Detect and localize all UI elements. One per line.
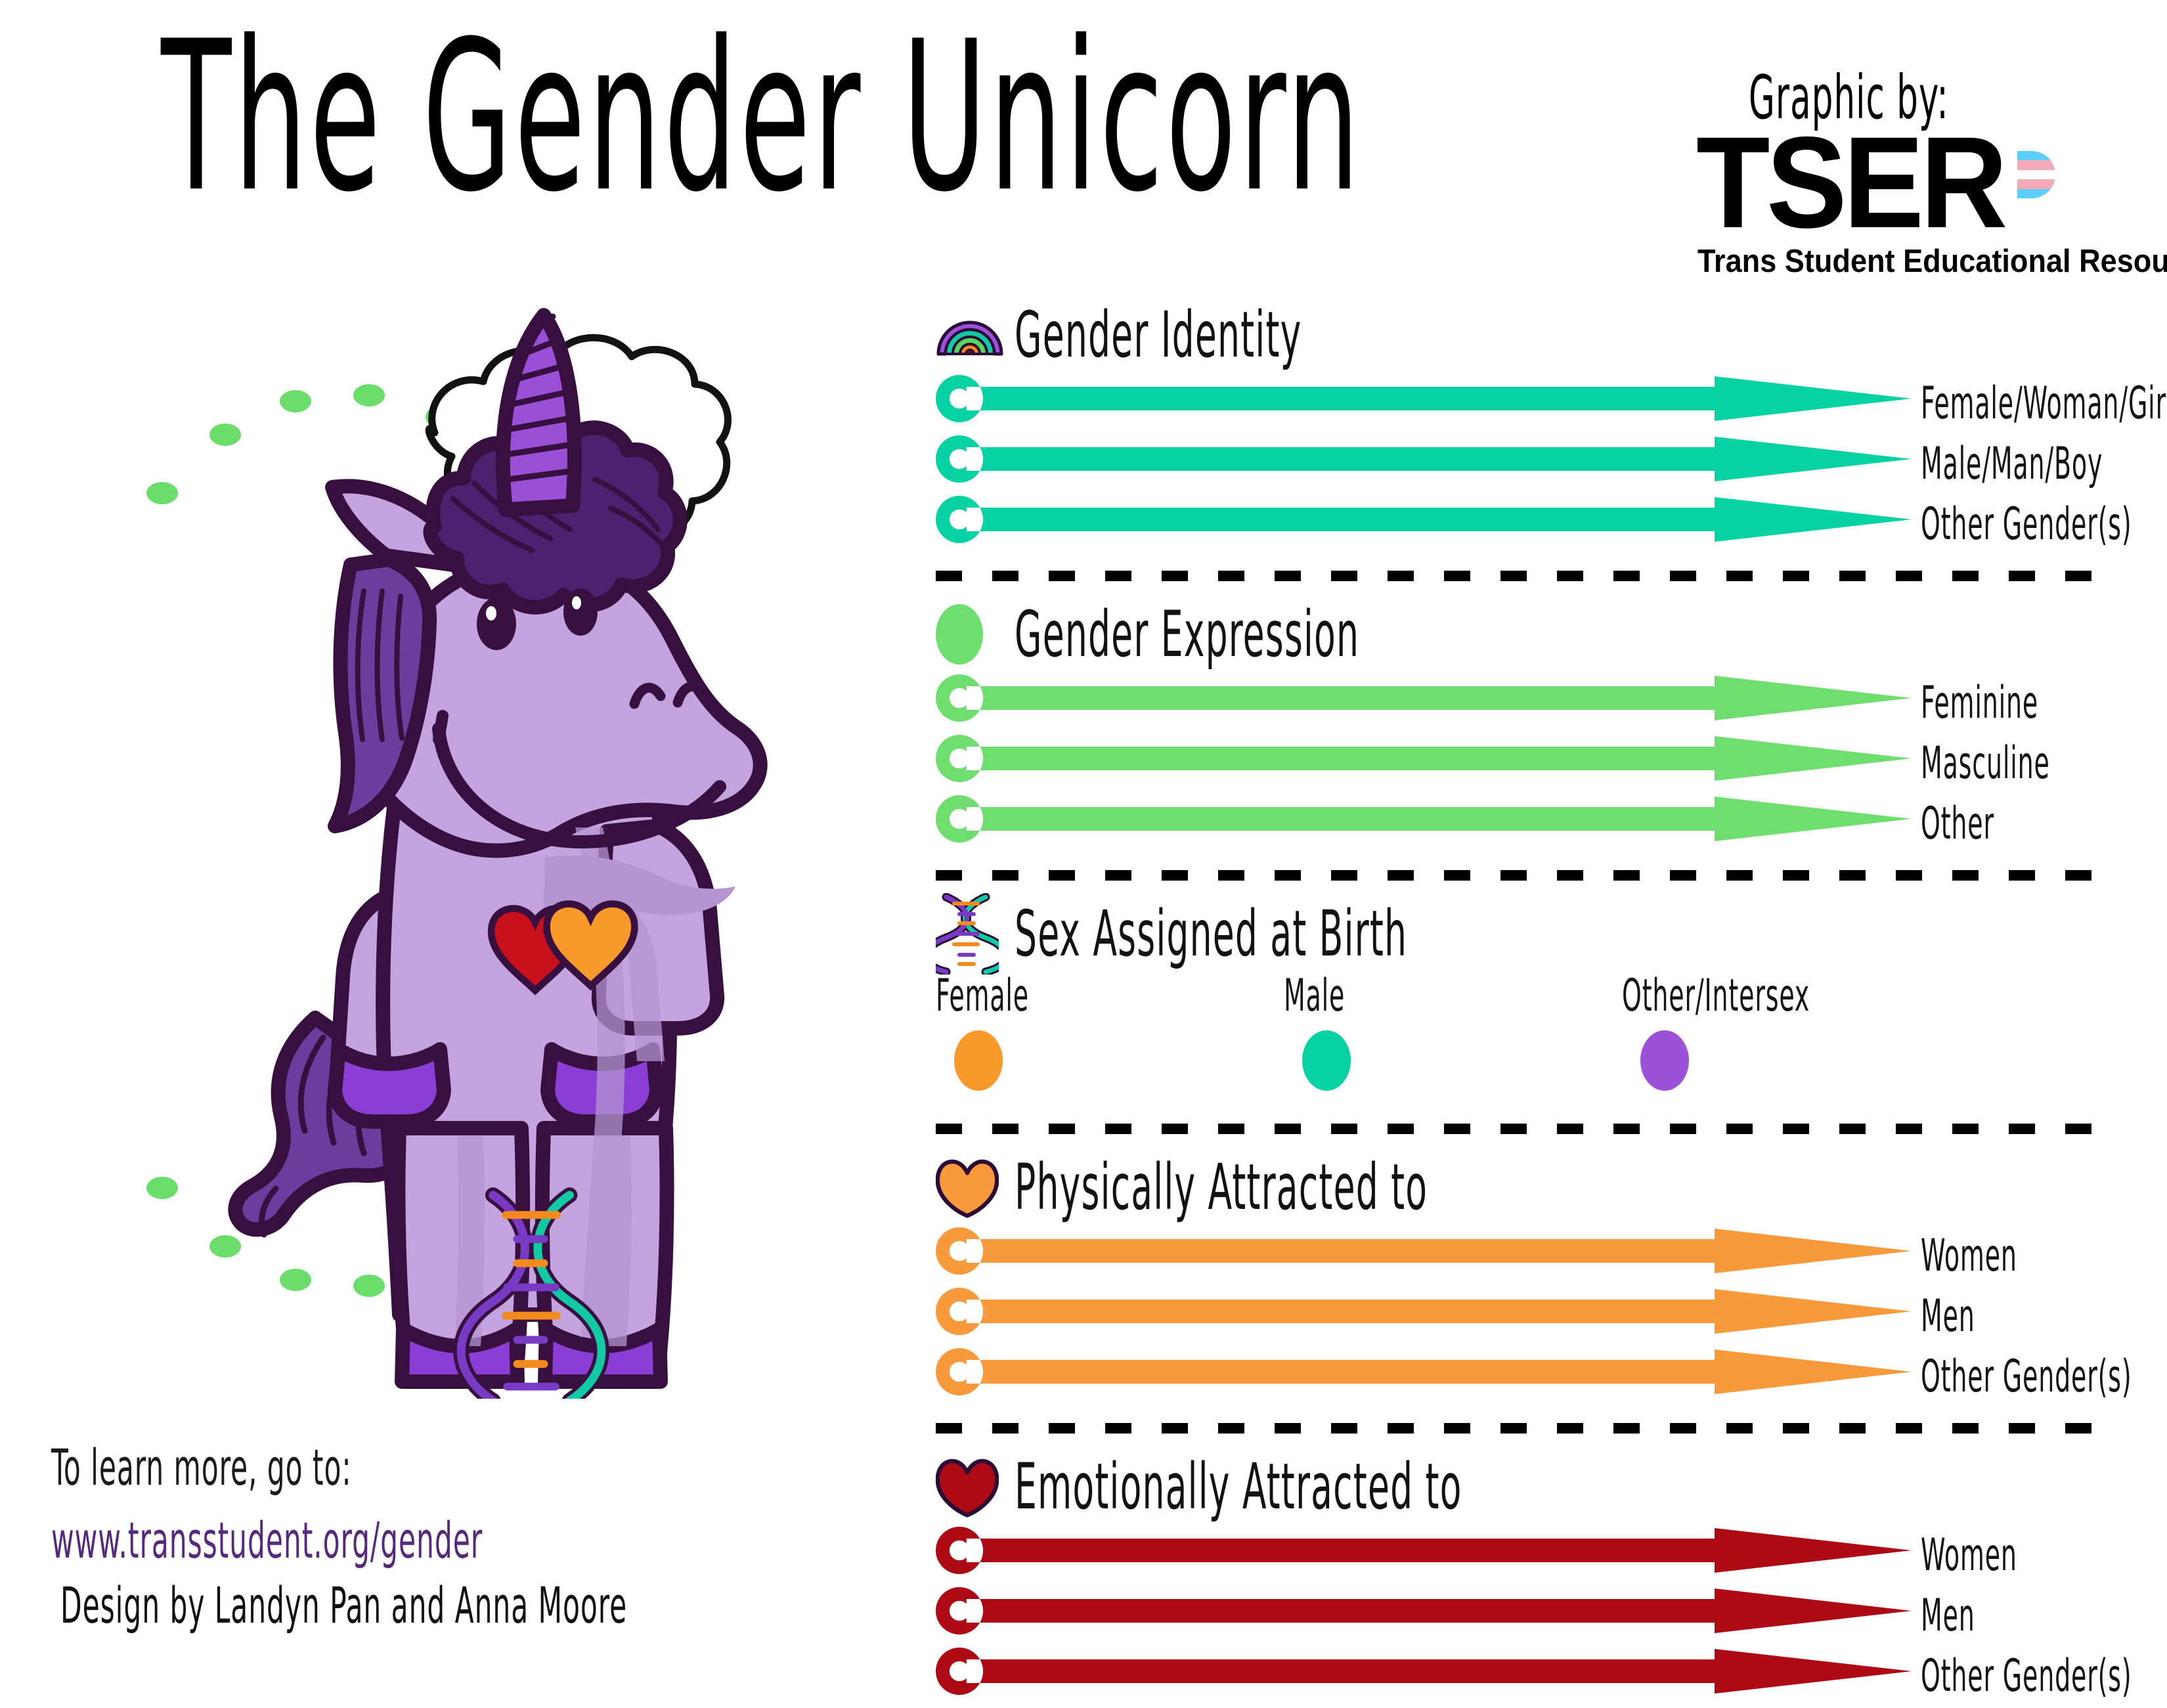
spectrum-label: Other	[1921, 798, 1994, 850]
section-icon-slot	[936, 893, 1013, 974]
section-header: Sex Assigned at Birth	[936, 898, 2111, 970]
graphic-credit-block: Graphic by: TSER Trans Student Education…	[1671, 62, 2131, 280]
spectrum-arrow[interactable]	[936, 735, 1912, 782]
spectrum-row[interactable]: Other Gender(s)	[936, 1648, 2111, 1708]
dna-icon	[936, 893, 999, 974]
spectrum-label: Other Gender(s)	[1921, 1351, 2132, 1403]
section-gender-identity: Gender Identity Female/Woman/Girl Male/M…	[936, 299, 2111, 556]
section-divider	[936, 1423, 2111, 1434]
sab-label: Other/Intersex	[1622, 970, 1810, 1022]
sab-label-row: FemaleMaleOther/Intersex	[936, 970, 2111, 1030]
section-header: Gender Identity	[936, 299, 2111, 371]
gender-unicorn-illustration	[177, 282, 913, 1399]
decor-dot	[146, 1177, 178, 1199]
spectrum-label: Men	[1921, 1290, 1975, 1342]
section-emotionally-attracted-to: Emotionally Attracted to Women Men Other…	[936, 1451, 2111, 1708]
arrow-rows: Feminine Masculine Other	[936, 674, 2111, 856]
spectrum-arrow[interactable]	[936, 1527, 1912, 1574]
arrow-rows: Women Men Other Gender(s)	[936, 1527, 2111, 1708]
spectrum-label: Feminine	[1921, 677, 2038, 729]
spectrum-arrow[interactable]	[936, 1587, 1912, 1634]
section-physically-attracted-to: Physically Attracted to Women Men Other …	[936, 1151, 2111, 1409]
tser-logo: TSER	[1696, 123, 2131, 242]
spectrum-row[interactable]: Other Gender(s)	[936, 1348, 2111, 1409]
spectrum-row[interactable]: Men	[936, 1288, 2111, 1348]
spectrum-label: Male/Man/Boy	[1921, 438, 2103, 490]
arrow-rows: Female/Woman/Girl Male/Man/Boy Other Gen…	[936, 375, 2111, 556]
spectrum-label: Other Gender(s)	[1921, 498, 2132, 550]
section-divider	[936, 571, 2111, 581]
section-gender-expression: Gender Expression Feminine Masculine Oth…	[936, 598, 2111, 856]
decor-dot	[146, 482, 178, 504]
spectrum-arrow[interactable]	[936, 435, 1912, 483]
green-circle-icon	[936, 604, 983, 665]
spectrum-arrow[interactable]	[936, 1227, 1912, 1275]
website-url[interactable]: www.transstudent.org/gender	[51, 1511, 483, 1569]
spectrum-row[interactable]: Other	[936, 795, 2111, 856]
section-divider	[936, 1124, 2111, 1134]
spectrum-label: Women	[1921, 1230, 2017, 1282]
page-title: The Gender Unicorn	[161, 20, 1362, 216]
orange-heart-icon	[936, 1156, 999, 1218]
section-icon-slot	[936, 604, 1013, 665]
poster-canvas: The Gender Unicorn Graphic by: TSER Tran…	[0, 0, 2167, 1675]
section-header: Gender Expression	[936, 598, 2111, 670]
spectrum-arrow[interactable]	[936, 1648, 1912, 1695]
section-title: Emotionally Attracted to	[1015, 1450, 1462, 1523]
spectrum-row[interactable]: Male/Man/Boy	[936, 435, 2111, 496]
sab-dot-row	[936, 1030, 2111, 1109]
sab-label: Male	[1284, 970, 1345, 1022]
section-sex-assigned-at-birth: Sex Assigned at BirthFemaleMaleOther/Int…	[936, 898, 2111, 1109]
rainbow-icon	[936, 313, 1004, 357]
section-title: Physically Attracted to	[1015, 1150, 1428, 1224]
section-title: Sex Assigned at Birth	[1015, 897, 1407, 971]
spectrum-row[interactable]: Other Gender(s)	[936, 496, 2111, 556]
arrow-rows: Women Men Other Gender(s)	[936, 1227, 2111, 1409]
spectrum-row[interactable]: Men	[936, 1587, 2111, 1648]
spectrum-label: Masculine	[1921, 737, 2050, 789]
section-header: Emotionally Attracted to	[936, 1451, 2111, 1523]
spectrum-arrow[interactable]	[936, 1348, 1912, 1395]
categories-column: Gender Identity Female/Woman/Girl Male/M…	[936, 299, 2111, 1708]
spectrum-row[interactable]: Female/Woman/Girl	[936, 375, 2111, 435]
learn-more-label: To learn more, go to:	[51, 1438, 483, 1497]
spectrum-arrow[interactable]	[936, 496, 1912, 543]
spectrum-label: Men	[1921, 1590, 1975, 1642]
section-icon-slot	[936, 1456, 1013, 1518]
section-title: Gender Expression	[1015, 598, 1359, 671]
spectrum-label: Women	[1921, 1529, 2017, 1581]
sab-dot[interactable]	[1302, 1030, 1351, 1091]
spectrum-row[interactable]: Feminine	[936, 674, 2111, 735]
spectrum-row[interactable]: Women	[936, 1527, 2111, 1587]
red-heart-icon	[936, 1456, 999, 1518]
section-icon-slot	[936, 1156, 1013, 1218]
sab-dot[interactable]	[954, 1030, 1003, 1091]
section-title: Gender Identity	[1015, 298, 1302, 372]
spectrum-arrow[interactable]	[936, 674, 1912, 722]
spectrum-arrow[interactable]	[936, 1288, 1912, 1335]
spectrum-arrow[interactable]	[936, 795, 1912, 843]
section-header: Physically Attracted to	[936, 1151, 2111, 1223]
section-icon-slot	[936, 313, 1013, 357]
design-credit: Design by Landyn Pan and Anna Moore	[60, 1576, 627, 1634]
spectrum-row[interactable]: Masculine	[936, 735, 2111, 795]
spectrum-arrow[interactable]	[936, 375, 1912, 422]
section-divider	[936, 870, 2111, 881]
spectrum-row[interactable]: Women	[936, 1227, 2111, 1288]
sab-label: Female	[936, 970, 1029, 1022]
spectrum-label: Other Gender(s)	[1921, 1650, 2132, 1702]
sab-dot[interactable]	[1640, 1030, 1689, 1091]
learn-more-block: To learn more, go to: www.transstudent.o…	[51, 1438, 747, 1569]
spectrum-label: Female/Woman/Girl	[1921, 378, 2167, 429]
tser-org-name: Trans Student Educational Resources	[1697, 243, 2096, 280]
